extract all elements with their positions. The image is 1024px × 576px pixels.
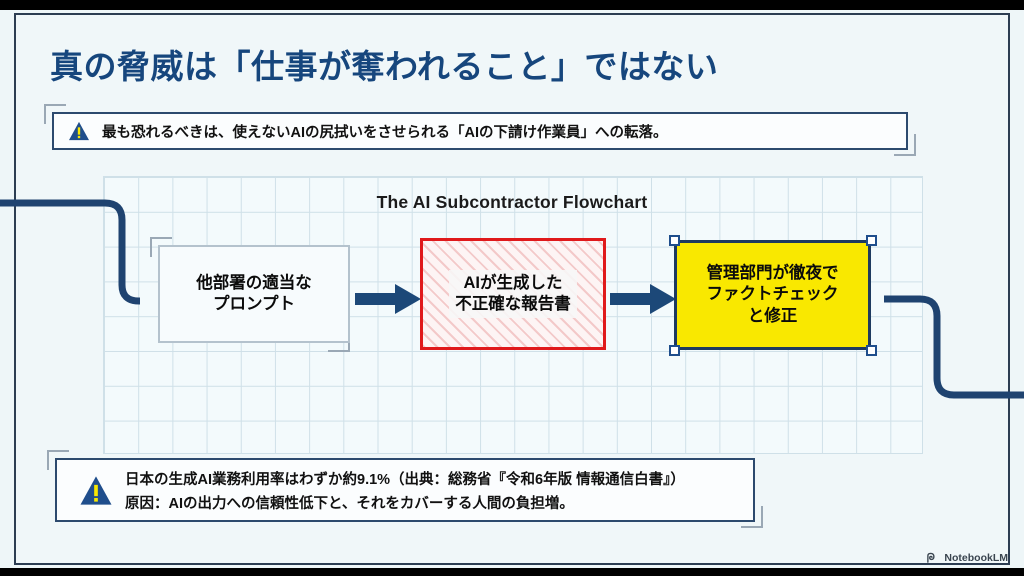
flow-arrow-2: [610, 283, 678, 315]
top-letterbox-bar: [0, 0, 1024, 10]
flow-node-prompt-line2: プロンプト: [196, 294, 312, 315]
slide-canvas: 真の脅威は「仕事が奪われること」ではない 最も恐れるべきは、使えないAIの尻拭い…: [0, 0, 1024, 576]
flow-node-inaccurate-report-line1: AIが生成した: [455, 273, 571, 294]
callout-bottom-line2: 原因：AIの出力への信頼性低下と、それをカバーする人間の負担増。: [125, 492, 685, 513]
callout-top: 最も恐れるべきは、使えないAIの尻拭いをさせられる「AIの下請け作業員」への転落…: [52, 112, 908, 150]
slide-title: 真の脅威は「仕事が奪われること」ではない: [50, 40, 718, 88]
right-elbow-connector: [884, 275, 1024, 410]
flow-node-inaccurate-report-line2: 不正確な報告書: [455, 294, 571, 315]
flowchart-title: The AI Subcontractor Flowchart: [0, 192, 1024, 213]
flow-node-factcheck-label: 管理部門が徹夜で ファクトチェック と修正: [707, 263, 839, 326]
callout-bottom-line1: 日本の生成AI業務利用率はわずか約9.1%（出典：総務省『令和6年版 情報通信白…: [125, 468, 685, 489]
callout-bottom: 日本の生成AI業務利用率はわずか約9.1%（出典：総務省『令和6年版 情報通信白…: [55, 458, 755, 522]
selection-handle-bottom-left[interactable]: [669, 345, 680, 356]
watermark: NotebookLM: [926, 552, 1008, 564]
flow-node-inaccurate-report[interactable]: AIが生成した 不正確な報告書: [420, 238, 606, 350]
flow-node-prompt-label: 他部署の適当な プロンプト: [196, 273, 312, 315]
watermark-label: NotebookLM: [944, 552, 1008, 564]
warning-triangle-icon: [68, 121, 90, 141]
callout-top-text: 最も恐れるべきは、使えないAIの尻拭いをさせられる「AIの下請け作業員」への転落…: [102, 121, 668, 142]
callout-bottom-text: 日本の生成AI業務利用率はわずか約9.1%（出典：総務省『令和6年版 情報通信白…: [125, 468, 685, 513]
flow-node-factcheck[interactable]: 管理部門が徹夜で ファクトチェック と修正: [674, 240, 871, 350]
flow-node-prompt-line1: 他部署の適当な: [196, 273, 312, 294]
flow-node-factcheck-line1: 管理部門が徹夜で: [707, 263, 839, 284]
notebooklm-logo-icon: [926, 552, 939, 564]
bottom-letterbox-bar: [0, 568, 1024, 576]
flow-node-factcheck-line2: ファクトチェック: [707, 284, 839, 305]
selection-handle-bottom-right[interactable]: [866, 345, 877, 356]
flow-node-factcheck-line3: と修正: [707, 306, 839, 327]
selection-handle-top-left[interactable]: [669, 235, 680, 246]
flow-node-prompt[interactable]: 他部署の適当な プロンプト: [158, 245, 350, 343]
flow-node-inaccurate-report-label: AIが生成した 不正確な報告書: [449, 270, 577, 318]
flow-arrow-1: [355, 283, 423, 315]
warning-triangle-icon: [79, 475, 113, 506]
selection-handle-top-right[interactable]: [866, 235, 877, 246]
